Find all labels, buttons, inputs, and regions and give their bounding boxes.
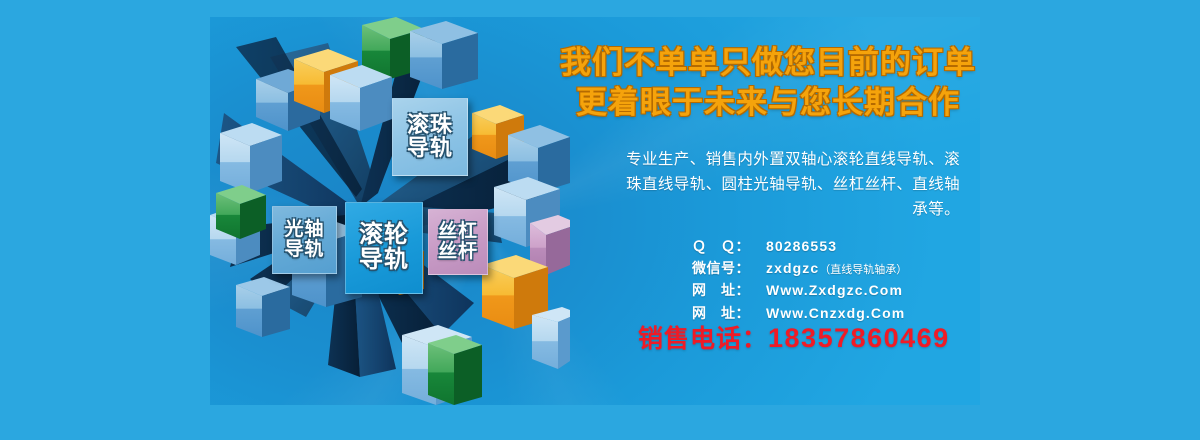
- sales-phone: 销售电话：18357860469: [638, 319, 978, 355]
- product-chip-lead-screw: 丝杠 丝杆: [428, 209, 488, 275]
- product-chip-roller-guide-line1: 滚轮: [359, 223, 409, 248]
- product-chip-lead-screw-line1: 丝杠: [438, 222, 478, 242]
- contact-label-website-primary: 网 址：: [692, 279, 766, 301]
- product-chip-optical-shaft-guide: 光轴 导轨: [272, 206, 337, 274]
- sales-phone-number[interactable]: 18357860469: [768, 323, 950, 353]
- contact-info-list: Ｑ Ｑ： 80286553 微信号： zxdgzc （直线导轨轴承） 网 址： …: [692, 235, 980, 324]
- headline-line-2: 更着眼于未来与您长期合作: [556, 83, 980, 123]
- contact-value-wechat: zxdgzc: [766, 257, 819, 279]
- product-chip-optical-shaft-guide-line1: 光轴: [284, 220, 324, 240]
- promo-banner: 滚珠 导轨 光轴 导轨 滚轮 导轨 丝杠 丝杆 我们不单单只做您目前的订单 更着…: [210, 17, 980, 405]
- product-chip-ball-guide: 滚珠 导轨: [392, 98, 468, 176]
- contact-row-qq: Ｑ Ｑ： 80286553: [692, 235, 980, 257]
- contact-label-qq: Ｑ Ｑ：: [692, 235, 766, 257]
- contact-row-website-primary[interactable]: 网 址： Www.Zxdgzc.Com: [692, 279, 980, 301]
- contact-row-wechat: 微信号： zxdgzc （直线导轨轴承）: [692, 257, 980, 279]
- product-chip-ball-guide-line2: 导轨: [407, 137, 453, 160]
- product-chip-roller-guide: 滚轮 导轨: [345, 202, 423, 294]
- product-chip-ball-guide-line1: 滚珠: [407, 114, 453, 137]
- banner-description: 专业生产、销售内外置双轴心滚轮直线导轨、滚珠直线导轨、圆柱光轴导轨、丝杠丝杆、直…: [615, 147, 960, 222]
- contact-value-website-primary[interactable]: Www.Zxdgzc.Com: [766, 279, 903, 301]
- contact-value-qq: 80286553: [766, 235, 837, 257]
- product-chip-optical-shaft-guide-line2: 导轨: [284, 240, 324, 260]
- banner-headline: 我们不单单只做您目前的订单 更着眼于未来与您长期合作: [556, 43, 980, 122]
- sales-phone-label: 销售电话：: [638, 325, 768, 353]
- product-chip-lead-screw-line2: 丝杆: [438, 242, 478, 262]
- contact-label-wechat: 微信号：: [692, 257, 766, 279]
- product-chip-roller-guide-line2: 导轨: [359, 248, 409, 273]
- headline-line-1: 我们不单单只做您目前的订单: [556, 43, 980, 83]
- banner-copy-column: 我们不单单只做您目前的订单 更着眼于未来与您长期合作 专业生产、销售内外置双轴心…: [550, 17, 980, 405]
- contact-note-wechat: （直线导轨轴承）: [819, 262, 907, 279]
